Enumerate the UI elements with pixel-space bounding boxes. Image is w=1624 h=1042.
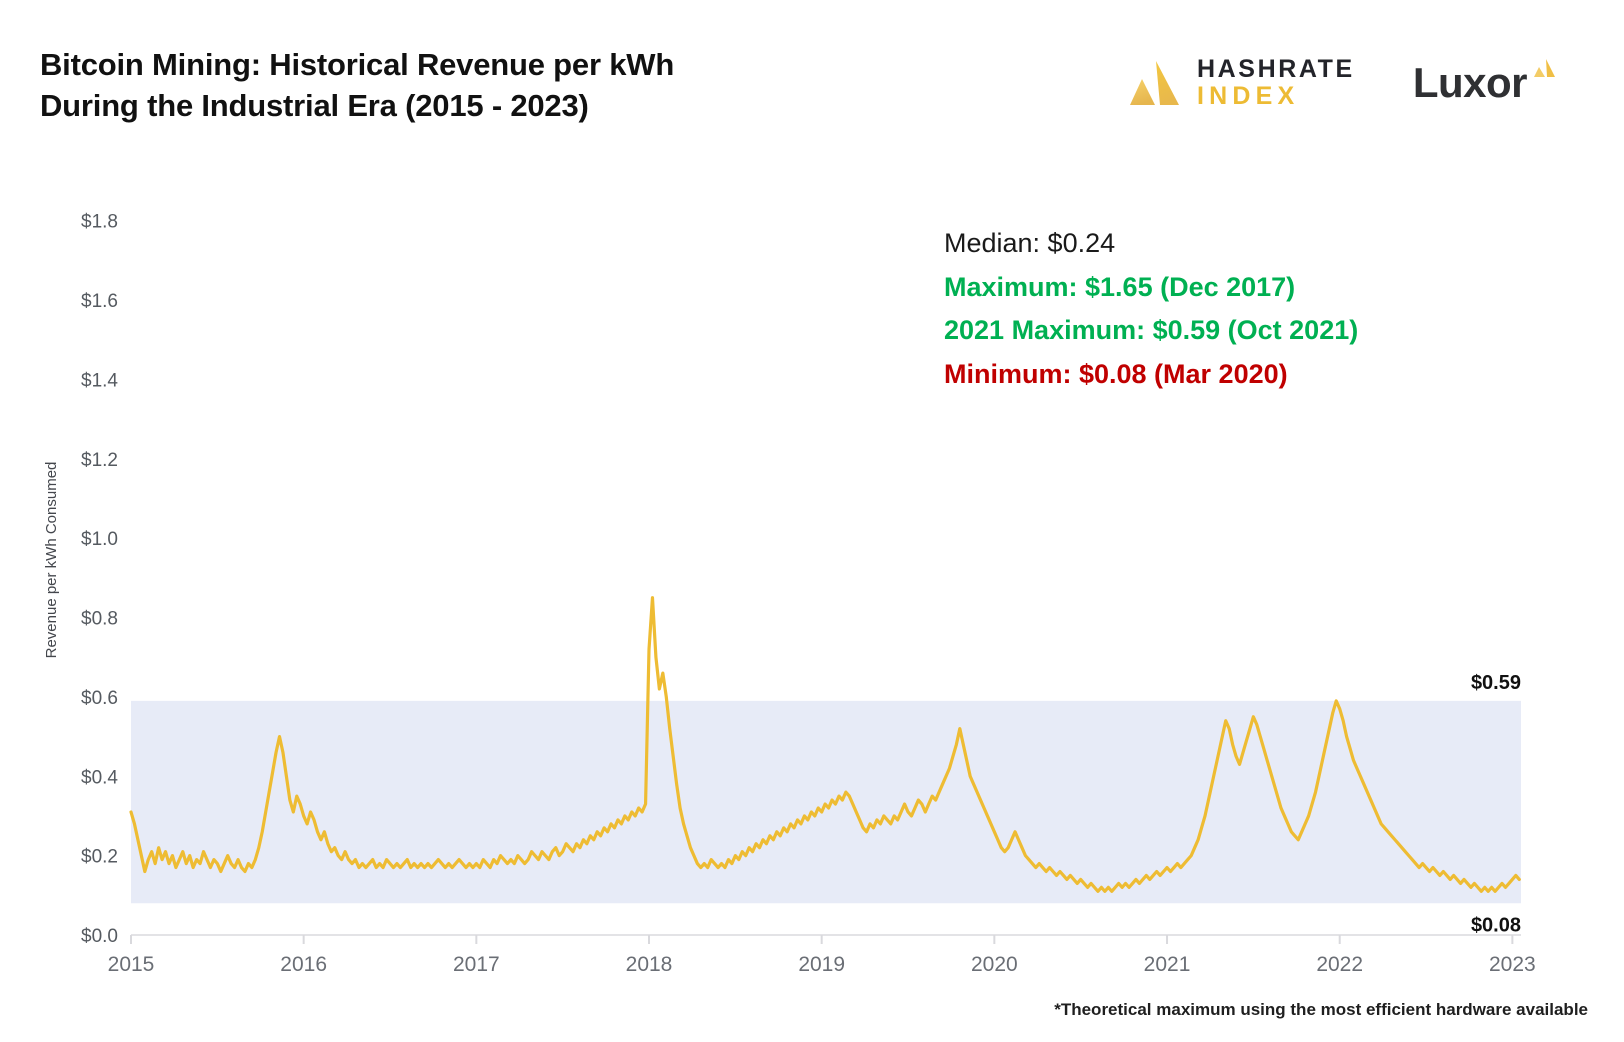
x-axis-tick-labels: 201520162017201820192020202120222023: [108, 953, 1536, 976]
y-tick-label: $0.8: [81, 609, 118, 630]
y-tick-label: $1.8: [81, 212, 118, 233]
median-annotation: Median: $0.24: [944, 222, 1504, 266]
footnote: *Theoretical maximum using the most effi…: [1054, 1000, 1588, 1020]
y-axis-tick-labels: $0.0$0.2$0.4$0.6$0.8$1.0$1.2$1.4$1.6$1.8: [81, 212, 118, 947]
y-tick-label: $0.0: [81, 926, 118, 947]
x-tick-label: 2020: [971, 953, 1018, 976]
chart-plot-area: $0.0$0.2$0.4$0.6$0.8$1.0$1.2$1.4$1.6$1.8…: [0, 0, 1624, 1042]
y-tick-label: $0.6: [81, 688, 118, 709]
band-upper-label: $0.59: [1471, 672, 1521, 694]
y-tick-label: $0.2: [81, 847, 118, 868]
y-tick-label: $1.0: [81, 529, 118, 550]
x-tick-label: 2022: [1316, 953, 1363, 976]
minimum-annotation: Minimum: $0.08 (Mar 2020): [944, 353, 1504, 397]
maximum-annotation: Maximum: $1.65 (Dec 2017): [944, 266, 1504, 310]
x-tick-label: 2023: [1489, 953, 1536, 976]
x-tick-label: 2016: [280, 953, 327, 976]
y-axis-title: Revenue per kWh Consumed: [43, 462, 60, 659]
x-tick-label: 2017: [453, 953, 500, 976]
x-tick-label: 2019: [798, 953, 845, 976]
x-axis-line-and-ticks: [131, 935, 1521, 944]
maximum-2021-annotation: 2021 Maximum: $0.59 (Oct 2021): [944, 309, 1504, 353]
y-tick-label: $1.4: [81, 370, 118, 391]
y-tick-label: $0.4: [81, 767, 118, 788]
x-tick-label: 2018: [626, 953, 673, 976]
y-tick-label: $1.2: [81, 450, 118, 471]
statistics-annotations: Median: $0.24 Maximum: $1.65 (Dec 2017) …: [944, 222, 1504, 397]
y-tick-label: $1.6: [81, 291, 118, 312]
x-tick-label: 2021: [1144, 953, 1191, 976]
revenue-per-kwh-line-chart: $0.0$0.2$0.4$0.6$0.8$1.0$1.2$1.4$1.6$1.8…: [0, 0, 1624, 1042]
x-tick-label: 2015: [108, 953, 155, 976]
band-lower-label: $0.08: [1471, 914, 1521, 936]
